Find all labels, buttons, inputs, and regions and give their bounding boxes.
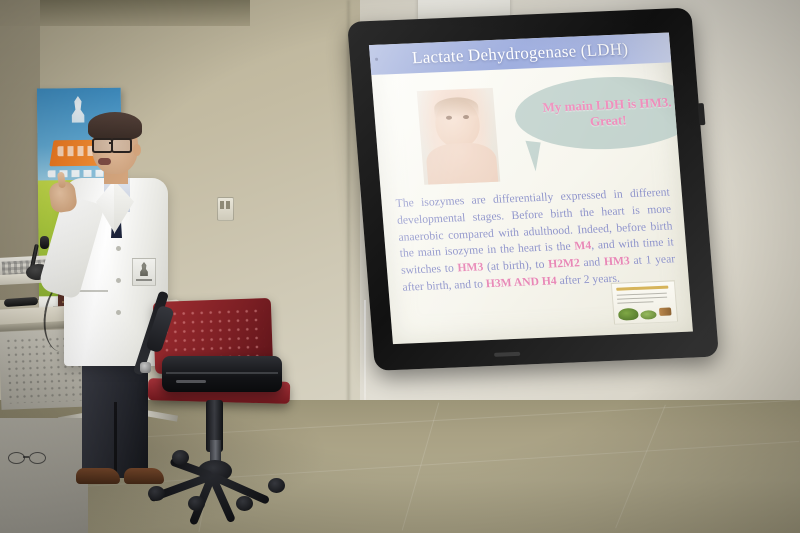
chair-caster	[268, 478, 285, 493]
office-chair[interactable]	[140, 300, 310, 515]
chair-caster	[172, 450, 189, 465]
eyeglasses-lens	[111, 138, 132, 153]
speech-bubble-line-2: Great!	[589, 112, 627, 130]
wall-mounted-flat-screen[interactable]: Lactate Dehydrogenase (LDH) My main LDH …	[347, 8, 719, 371]
lecturer-mouth	[98, 158, 111, 165]
bag-zipper	[176, 380, 206, 383]
chair-caster	[188, 496, 205, 511]
lab-coat-button	[116, 278, 121, 283]
slide-body-highlight: HM3	[603, 254, 630, 268]
gooseneck-microphone-capsule	[40, 236, 49, 249]
lecturer-leg-seam	[114, 402, 117, 476]
presentation-slide: Lactate Dehydrogenase (LDH) My main LDH …	[369, 33, 693, 345]
baby-photo	[417, 88, 501, 185]
lecture-room-photo: Lactate Dehydrogenase (LDH) My main LDH …	[0, 0, 800, 533]
lecturer-hair	[88, 112, 142, 140]
slide-body-run: (at birth), to	[483, 258, 549, 274]
laptop-bag[interactable]	[162, 356, 282, 392]
chair-caster	[236, 496, 253, 511]
lecturer-pointing-finger	[57, 172, 66, 189]
chair-caster	[148, 486, 165, 501]
eyeglasses-lens	[92, 138, 113, 153]
lab-coat-button	[116, 310, 121, 315]
title-bullet-icon	[375, 58, 378, 61]
lecturer-ear	[133, 144, 141, 156]
lecturer-shoe	[76, 468, 120, 484]
baby-hair	[433, 97, 479, 119]
breast-pocket-badge	[132, 258, 156, 286]
slide-title: Lactate Dehydrogenase (LDH)	[369, 37, 671, 70]
lab-coat-button	[116, 246, 121, 251]
slide-body-run: and	[579, 255, 604, 269]
badge-emblem-icon	[138, 262, 150, 276]
slide-body-highlight: M4	[574, 239, 592, 253]
eyeglasses	[8, 452, 46, 464]
bag-flap-seam	[166, 372, 278, 374]
slide-body-highlight: HM3	[457, 261, 484, 275]
institution-logo	[611, 280, 678, 325]
floor-grout-line	[615, 405, 666, 529]
baby-body	[425, 142, 499, 185]
slide-body-highlight: H2M2	[548, 256, 581, 270]
slide-body-text: The isozymes are differentially expresse…	[395, 185, 677, 297]
light-switch-plate[interactable]	[217, 197, 234, 221]
slide-body-highlight: H3M AND H4	[485, 274, 557, 290]
bag-strap-clip	[140, 362, 151, 373]
